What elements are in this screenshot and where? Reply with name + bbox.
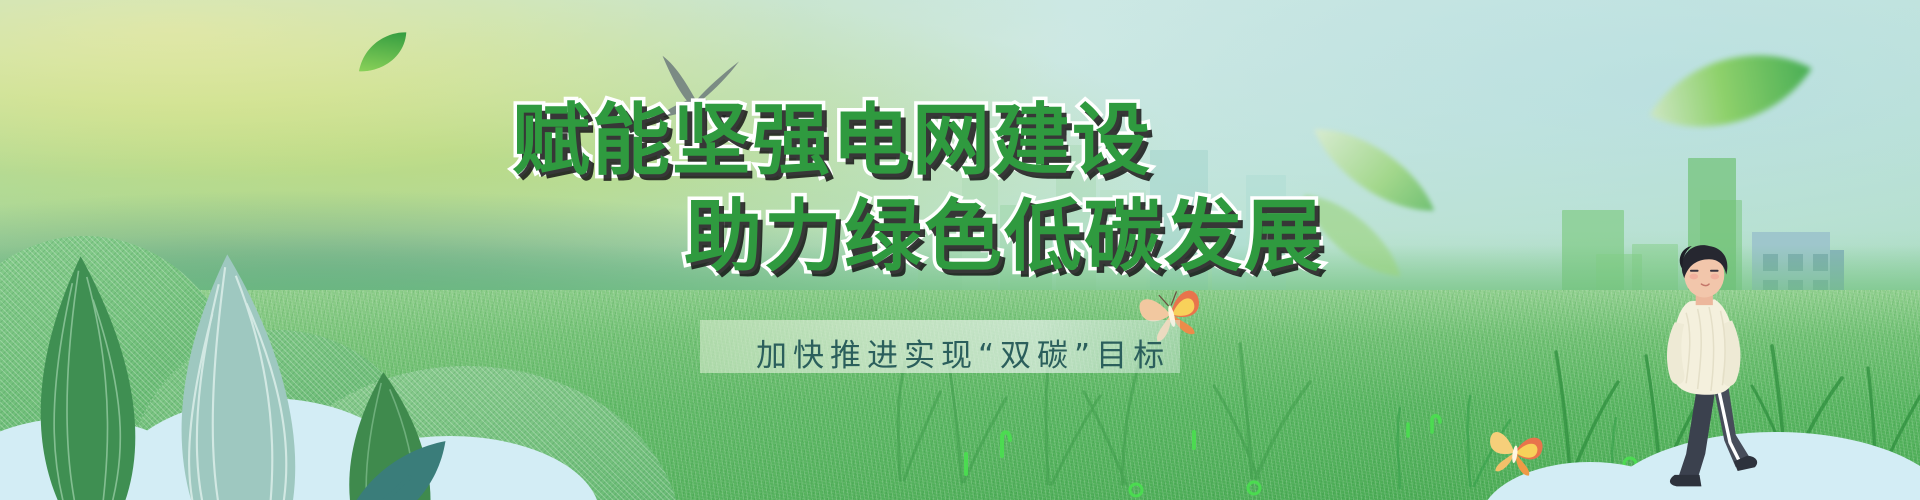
leaf-dark-left (18, 248, 168, 500)
swallow-bird-icon (642, 52, 754, 136)
walking-person (1648, 240, 1772, 498)
leaf-teal-left (148, 248, 330, 500)
butterfly-lower (1480, 420, 1551, 484)
eco-power-banner: 赋能坚强电网建设 助力绿色低碳发展 加快推进实现“双碳”目标 (0, 0, 1920, 500)
subtitle-text: 加快推进实现“双碳”目标 (756, 330, 1170, 375)
leaf-teal-small-right (326, 402, 454, 500)
